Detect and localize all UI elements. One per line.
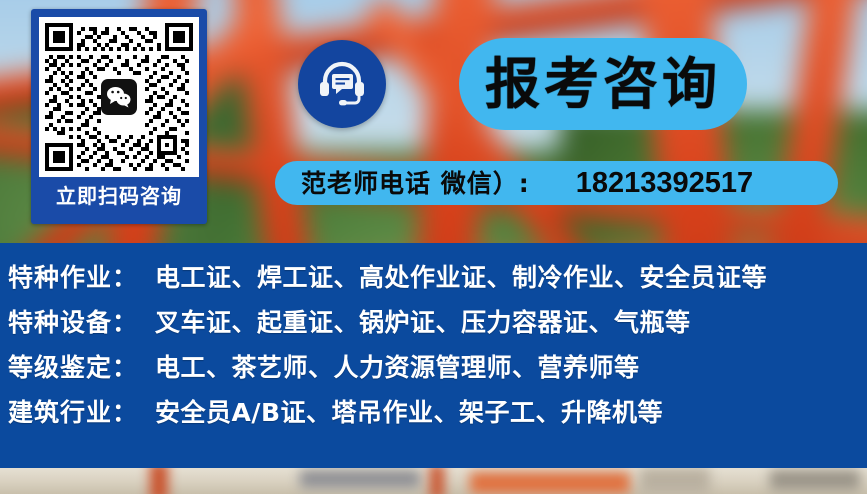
strip-object — [150, 468, 168, 494]
qr-card[interactable]: 立即扫码咨询 — [31, 9, 207, 224]
phone-number[interactable]: 18213392517 — [576, 169, 753, 198]
category-label: 建筑行业： — [8, 400, 155, 425]
category-value: 电工、茶艺师、人力资源管理师、营养师等 — [155, 355, 640, 380]
headset-support-icon — [315, 57, 369, 111]
category-row: 特种作业： 电工证、焊工证、高处作业证、制冷作业、安全员证等 — [0, 243, 867, 310]
bottom-photo-strip — [0, 468, 867, 494]
title-pill[interactable]: 报考咨询 — [459, 38, 747, 130]
strip-object — [430, 468, 444, 494]
phone-pill[interactable]: 范老师电话 微信）: 18213392517 — [275, 161, 838, 205]
category-row: 建筑行业： 安全员A/B证、塔吊作业、架子工、升降机等 — [0, 400, 867, 445]
strip-object — [470, 472, 630, 494]
title-text: 报考咨询 — [485, 57, 721, 112]
category-value: 叉车证、起重证、锅炉证、压力容器证、气瓶等 — [155, 310, 691, 335]
wechat-glyph — [106, 86, 132, 108]
category-value: 安全员A/B证、塔吊作业、架子工、升降机等 — [155, 400, 663, 425]
headset-support-badge[interactable] — [298, 40, 386, 128]
wechat-logo-icon — [101, 79, 137, 115]
category-label: 特种作业： — [8, 265, 155, 290]
strip-object — [300, 470, 420, 488]
certificate-category-panel: 特种作业： 电工证、焊工证、高处作业证、制冷作业、安全员证等 特种设备： 叉车证… — [0, 243, 867, 468]
category-row: 特种设备： 叉车证、起重证、锅炉证、压力容器证、气瓶等 — [0, 310, 867, 355]
category-row: 等级鉴定： 电工、茶艺师、人力资源管理师、营养师等 — [0, 355, 867, 400]
category-label: 等级鉴定： — [8, 355, 155, 380]
category-value: 电工证、焊工证、高处作业证、制冷作业、安全员证等 — [155, 265, 767, 290]
category-label: 特种设备： — [8, 310, 155, 335]
strip-object — [770, 470, 860, 490]
phone-name-label: 范老师电话 微信）: — [301, 171, 530, 196]
qr-card-label: 立即扫码咨询 — [56, 186, 182, 206]
promo-poster: 立即扫码咨询 报考咨询 范老师电话 微信）: 18213392517 特种作业：… — [0, 0, 867, 494]
qr-code-image[interactable] — [39, 17, 199, 177]
strip-object — [640, 468, 710, 494]
